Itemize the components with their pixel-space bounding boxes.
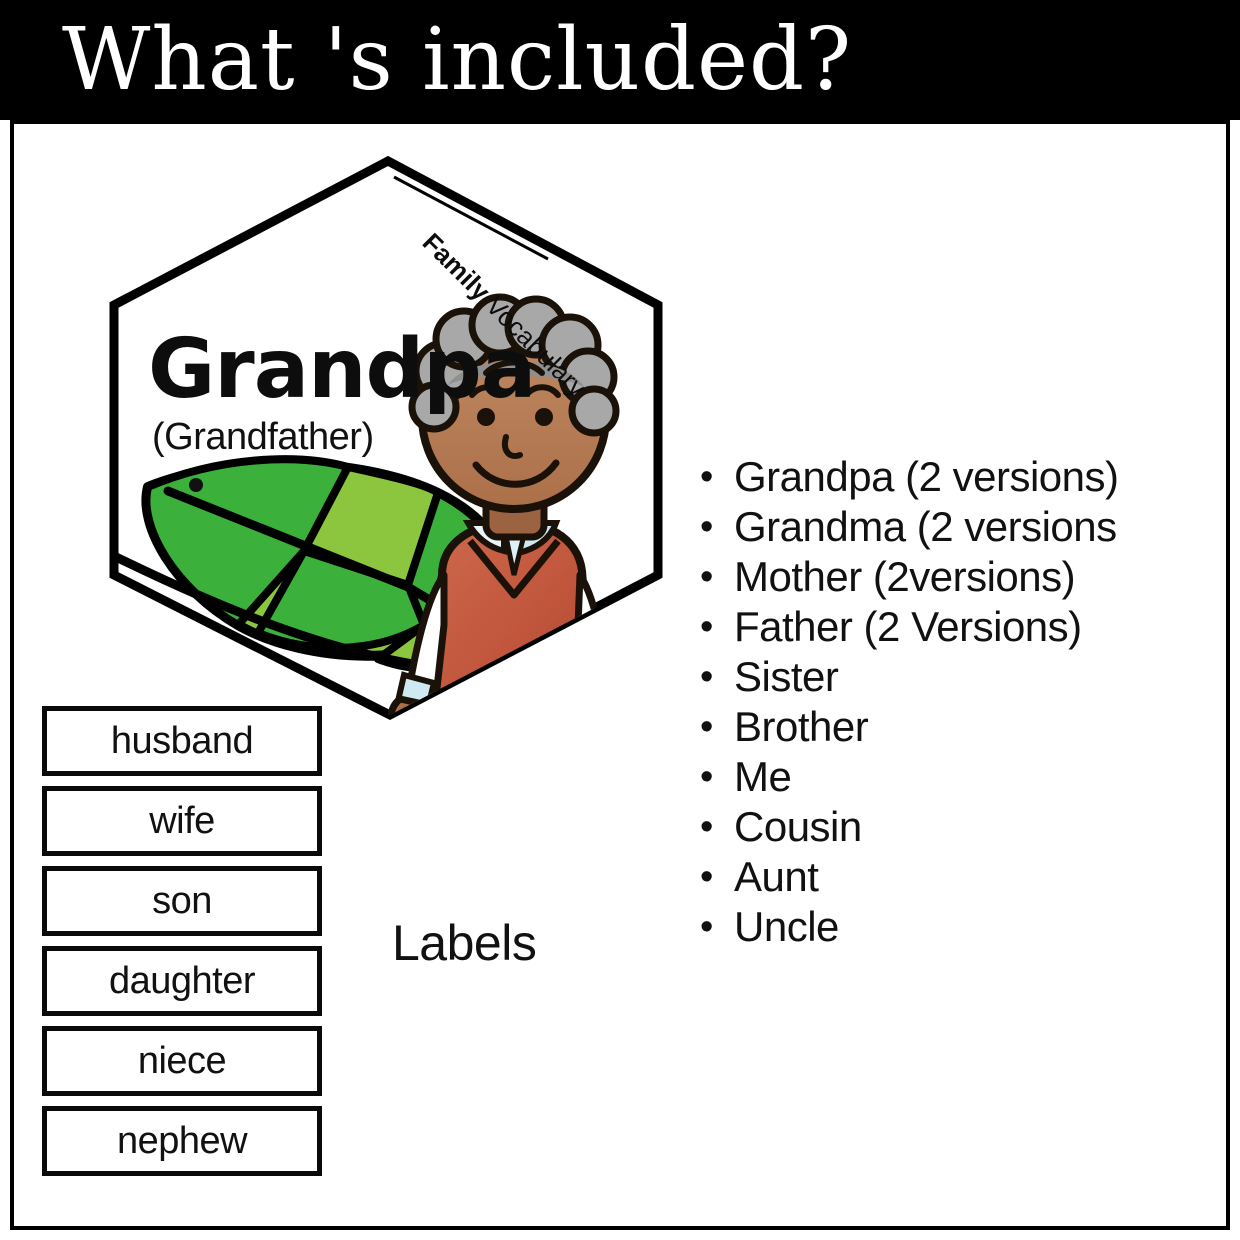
list-item: • Sister xyxy=(700,652,1200,702)
label-box[interactable]: son xyxy=(42,866,322,936)
list-item-label: Me xyxy=(734,752,791,802)
bullet-icon: • xyxy=(700,652,734,702)
list-item: • Cousin xyxy=(700,802,1200,852)
list-item: • Aunt xyxy=(700,852,1200,902)
bullet-icon: • xyxy=(700,702,734,752)
labels-caption: Labels xyxy=(392,915,536,971)
list-item-label: Mother (2versions) xyxy=(734,552,1075,602)
bullet-icon: • xyxy=(700,802,734,852)
bullet-icon: • xyxy=(700,902,734,952)
label-box[interactable]: niece xyxy=(42,1026,322,1096)
list-item: • Brother xyxy=(700,702,1200,752)
label-box-text: nephew xyxy=(117,1121,247,1161)
label-boxes-group: husband wife son daughter niece nephew xyxy=(42,706,322,1186)
bullet-icon: • xyxy=(700,502,734,552)
list-item: • Me xyxy=(700,752,1200,802)
hexagon-card-artwork xyxy=(108,155,664,721)
list-item: • Mother (2versions) xyxy=(700,552,1200,602)
label-box-text: niece xyxy=(138,1041,226,1081)
header-bar: What 's included? xyxy=(0,0,1240,120)
page-title: What 's included? xyxy=(62,6,852,114)
label-box[interactable]: daughter xyxy=(42,946,322,1016)
included-list: • Grandpa (2 versions) • Grandma (2 vers… xyxy=(700,452,1200,952)
bullet-icon: • xyxy=(700,752,734,802)
bullet-icon: • xyxy=(700,852,734,902)
list-item-label: Grandma (2 versions xyxy=(734,502,1117,552)
list-item-label: Uncle xyxy=(734,902,839,952)
poster-page: What 's included? xyxy=(0,0,1240,1240)
label-box-text: husband xyxy=(111,721,253,761)
list-item-label: Brother xyxy=(734,702,868,752)
label-box[interactable]: husband xyxy=(42,706,322,776)
bullet-icon: • xyxy=(700,602,734,652)
list-item-label: Cousin xyxy=(734,802,862,852)
list-item-label: Sister xyxy=(734,652,838,702)
list-item-label: Grandpa (2 versions) xyxy=(734,452,1119,502)
label-box-text: son xyxy=(152,881,212,921)
hexagon-flashcard[interactable]: Family Vocabulary Grandpa (Grandfather) xyxy=(108,155,664,721)
list-item-label: Aunt xyxy=(734,852,818,902)
list-item: • Uncle xyxy=(700,902,1200,952)
list-item: • Grandma (2 versions xyxy=(700,502,1200,552)
label-box[interactable]: nephew xyxy=(42,1106,322,1176)
bullet-icon: • xyxy=(700,552,734,602)
list-item: • Father (2 Versions) xyxy=(700,602,1200,652)
label-box-text: wife xyxy=(149,801,215,841)
list-item: • Grandpa (2 versions) xyxy=(700,452,1200,502)
label-box[interactable]: wife xyxy=(42,786,322,856)
label-box-text: daughter xyxy=(109,961,255,1001)
list-item-label: Father (2 Versions) xyxy=(734,602,1082,652)
bullet-icon: • xyxy=(700,452,734,502)
